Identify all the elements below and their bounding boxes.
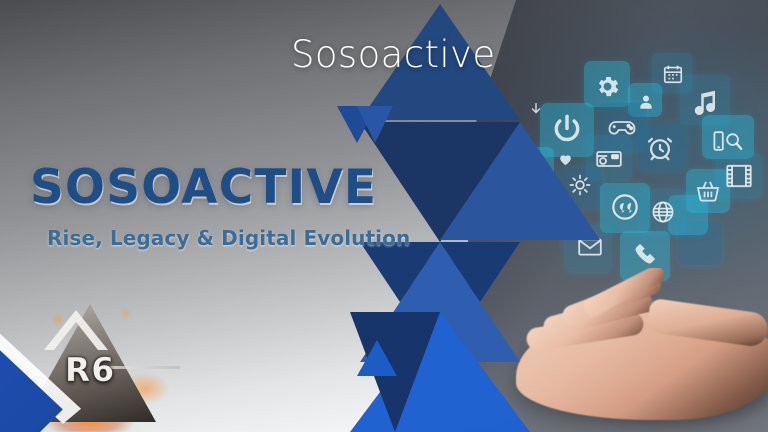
badge-chevron-icon — [40, 308, 112, 354]
promo-banner: Sosoactive SOSOACTIVE Rise, Legacy & Dig… — [0, 0, 768, 432]
page-subtitle: Rise, Legacy & Digital Evolution — [47, 226, 410, 250]
brand-watermark: Sosoactive — [291, 33, 496, 76]
page-title: SOSOACTIVE — [30, 160, 377, 215]
